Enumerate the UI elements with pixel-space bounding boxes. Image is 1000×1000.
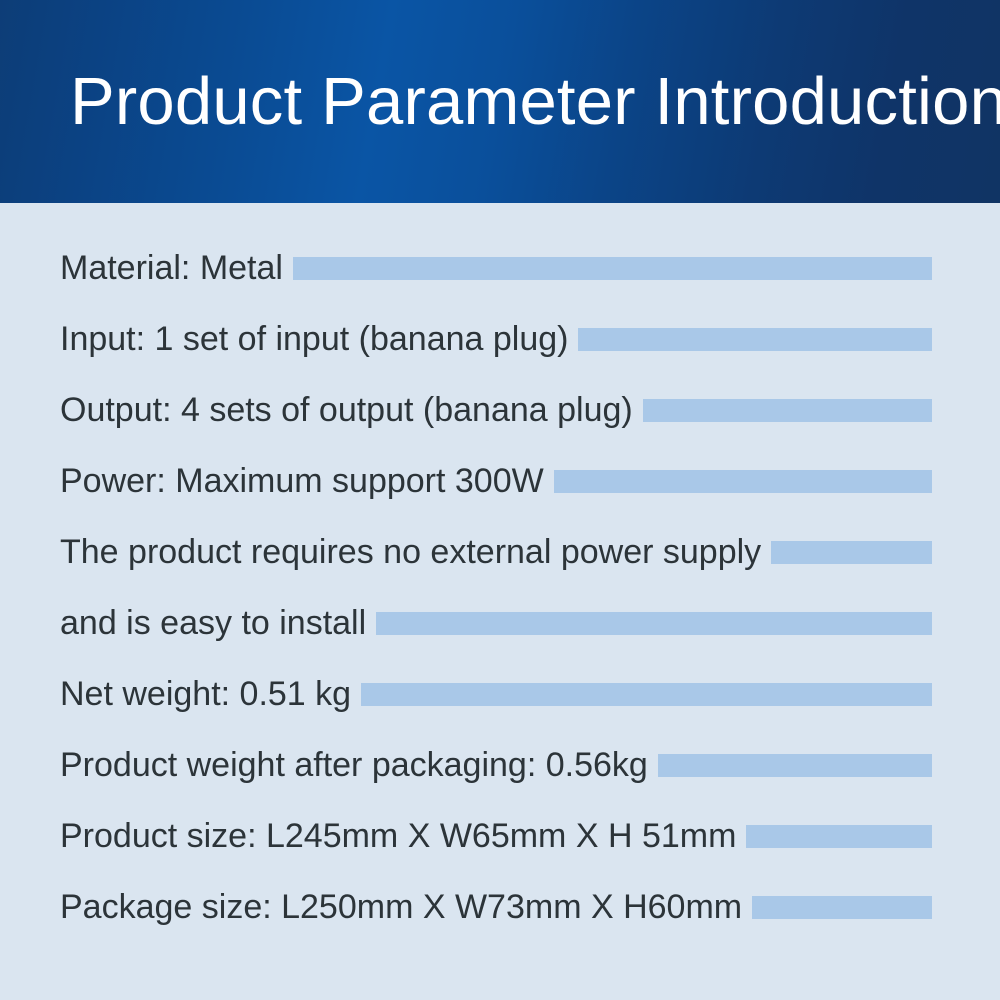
spec-label: Input: 1 set of input (banana plug) xyxy=(60,317,568,361)
spec-row: Package size: L250mm X W73mm X H60mm xyxy=(60,885,932,929)
spec-row: Material: Metal xyxy=(60,246,932,290)
spec-label: Product size: L245mm X W65mm X H 51mm xyxy=(60,814,736,858)
spec-fill-bar xyxy=(578,328,932,351)
spec-row: and is easy to install xyxy=(60,601,932,645)
spec-fill-bar xyxy=(376,612,932,635)
product-parameter-page: Product Parameter Introduction Material:… xyxy=(0,0,1000,1000)
spec-row: Product size: L245mm X W65mm X H 51mm xyxy=(60,814,932,858)
spec-label: Net weight: 0.51 kg xyxy=(60,672,351,716)
spec-fill-bar xyxy=(752,896,932,919)
spec-fill-bar xyxy=(643,399,932,422)
spec-fill-bar xyxy=(658,754,932,777)
spec-label: The product requires no external power s… xyxy=(60,530,761,574)
header-banner: Product Parameter Introduction xyxy=(0,0,1000,203)
spec-row: Product weight after packaging: 0.56kg xyxy=(60,743,932,787)
spec-row: The product requires no external power s… xyxy=(60,530,932,574)
spec-fill-bar xyxy=(746,825,932,848)
spec-list: Material: Metal Input: 1 set of input (b… xyxy=(0,203,1000,1000)
spec-row: Output: 4 sets of output (banana plug) xyxy=(60,388,932,432)
spec-label: Output: 4 sets of output (banana plug) xyxy=(60,388,633,432)
spec-row: Input: 1 set of input (banana plug) xyxy=(60,317,932,361)
page-title: Product Parameter Introduction xyxy=(70,62,1000,142)
spec-label: and is easy to install xyxy=(60,601,366,645)
spec-fill-bar xyxy=(771,541,932,564)
spec-label: Material: Metal xyxy=(60,246,283,290)
spec-row: Net weight: 0.51 kg xyxy=(60,672,932,716)
spec-row: Power: Maximum support 300W xyxy=(60,459,932,503)
spec-label: Product weight after packaging: 0.56kg xyxy=(60,743,648,787)
spec-label: Package size: L250mm X W73mm X H60mm xyxy=(60,885,742,929)
spec-fill-bar xyxy=(361,683,932,706)
spec-label: Power: Maximum support 300W xyxy=(60,459,544,503)
spec-fill-bar xyxy=(554,470,932,493)
spec-fill-bar xyxy=(293,257,932,280)
